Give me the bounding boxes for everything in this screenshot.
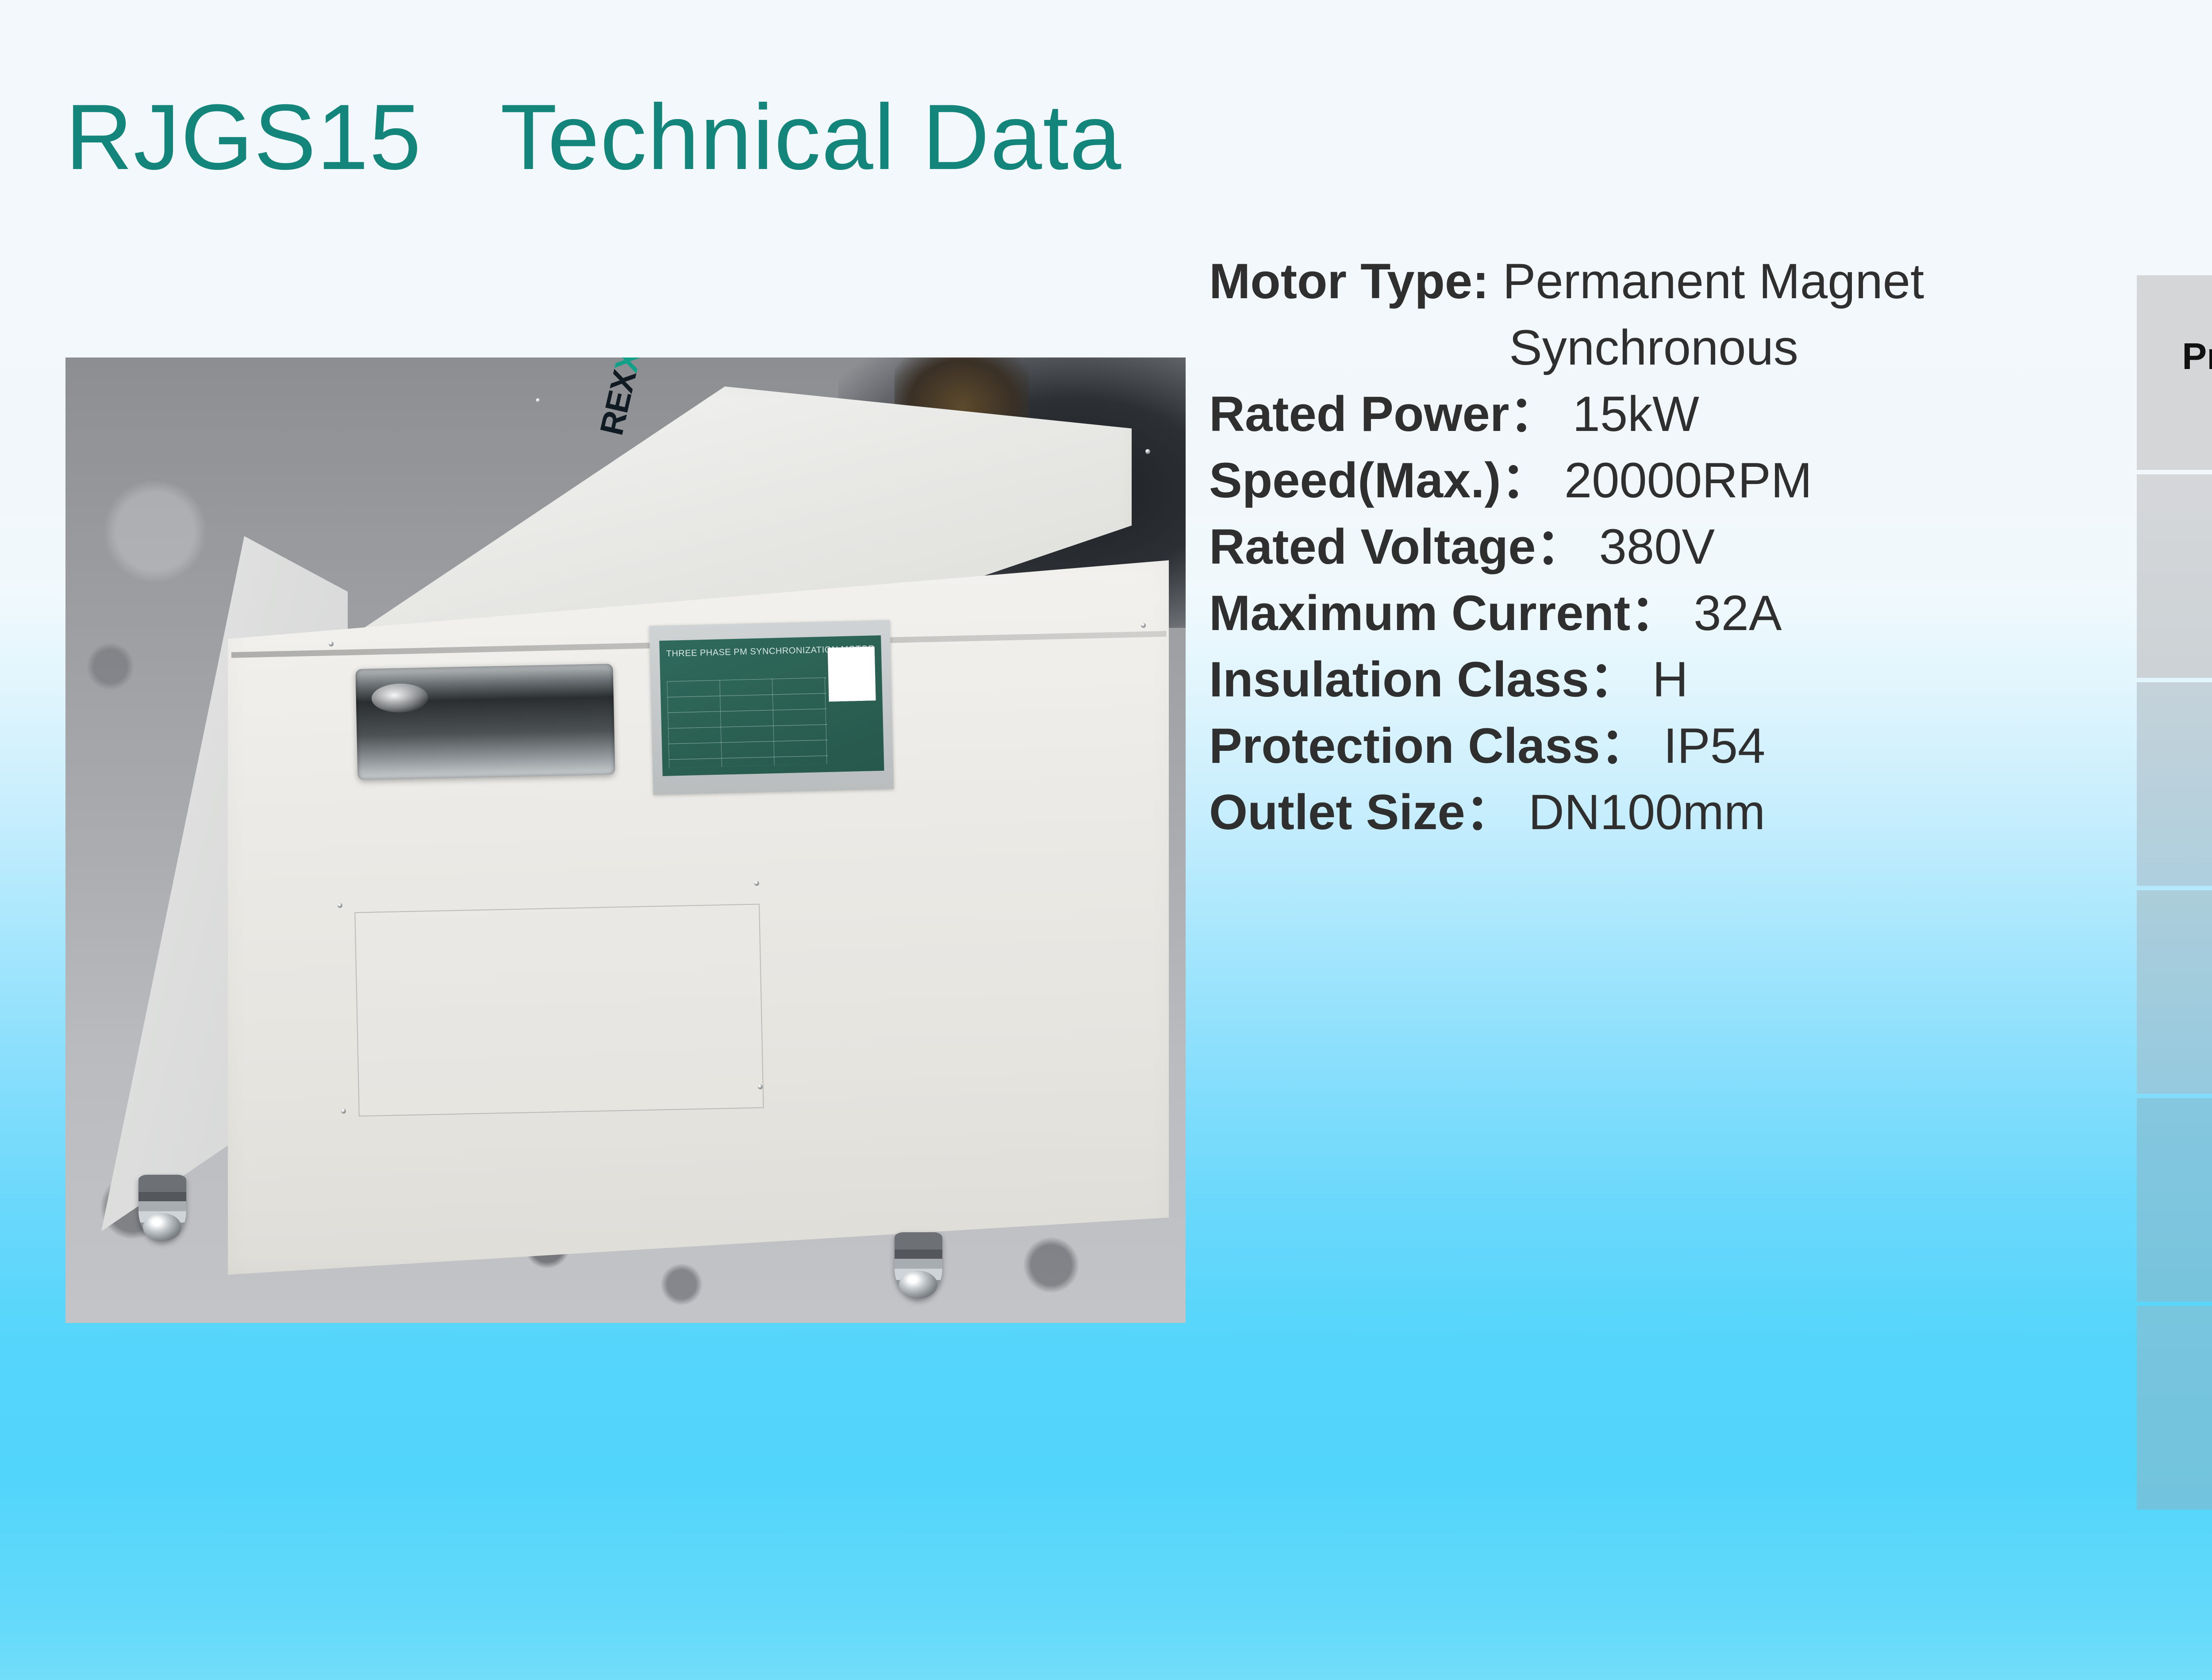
- spec-value: Permanent Magnet: [1503, 254, 1924, 309]
- spec-value: H: [1652, 652, 1688, 707]
- spec-value: 32A: [1694, 585, 1782, 641]
- qr-code-icon: [828, 646, 876, 702]
- table-row: 25 35.4: [2137, 890, 2212, 1094]
- slide-canvas: RJGS15 Technical Data REXXCHIP®瑞晶 THREE …: [0, 0, 2212, 1680]
- spec-key: Motor Type:: [1209, 254, 1489, 309]
- spec-key: Outlet Size：: [1209, 784, 1515, 840]
- table-header-row: Pressure （kpa） Airflow （m³/min）: [2137, 275, 2212, 470]
- table-row: 15 41.6: [2137, 474, 2212, 678]
- spec-row-maximum-current: Maximum Current： 32A: [1209, 588, 2098, 638]
- screw-icon: [341, 1109, 346, 1114]
- table-row: 30 23.9: [2137, 1098, 2212, 1302]
- machine-foot: [138, 1175, 186, 1241]
- spec-row-rated-power: Rated Power： 15kW: [1209, 389, 2098, 439]
- spec-value: 380V: [1599, 519, 1715, 574]
- nameplate-title: THREE PHASE PM SYNCHRONIZATION MOTOR: [666, 645, 844, 659]
- screw-icon: [758, 1084, 763, 1089]
- spec-key: Insulation Class：: [1209, 652, 1639, 707]
- spec-row-motor-type: Motor Type: Permanent Magnet: [1209, 257, 2098, 306]
- cell-pressure: 20: [2137, 682, 2212, 886]
- spec-key: Speed(Max.)：: [1209, 453, 1551, 508]
- spec-value: 20000RPM: [1564, 453, 1812, 508]
- performance-table: Pressure （kpa） Airflow （m³/min） 15 41.6 …: [2137, 275, 2212, 1510]
- spec-row-insulation-class: Insulation Class： H: [1209, 655, 2098, 704]
- machine-access-panel: [355, 903, 764, 1116]
- cell-pressure: 30: [2137, 1098, 2212, 1302]
- spec-key: Rated Power：: [1209, 386, 1559, 442]
- table-row: 20 38.2: [2137, 682, 2212, 886]
- table-header-pressure-label: Pressure: [2182, 335, 2212, 377]
- spec-key: Rated Voltage：: [1209, 519, 1586, 574]
- cell-pressure: 25: [2137, 890, 2212, 1094]
- screw-icon: [329, 642, 334, 646]
- spec-value: IP54: [1663, 718, 1765, 773]
- cell-pressure: 15: [2137, 474, 2212, 678]
- spec-value: 15kW: [1573, 386, 1699, 442]
- spec-row-outlet-size: Outlet Size： DN100mm: [1209, 788, 2098, 837]
- nameplate-spec-grid: [667, 677, 828, 768]
- page-title: RJGS15 Technical Data: [65, 88, 1122, 186]
- machine-foot: [895, 1232, 942, 1299]
- spec-key: Protection Class：: [1209, 718, 1650, 773]
- spec-value: DN100mm: [1528, 784, 1765, 840]
- screw-icon: [754, 881, 759, 886]
- table-header-pressure: Pressure （kpa）: [2137, 275, 2212, 470]
- spec-row-protection-class: Protection Class： IP54: [1209, 721, 2098, 771]
- spec-row-rated-voltage: Rated Voltage： 380V: [1209, 522, 2098, 572]
- table-row: 35 21.3: [2137, 1306, 2212, 1510]
- product-photo: REXXCHIP®瑞晶 THREE PHASE PM SYNCHRONIZATI…: [65, 358, 1186, 1323]
- motor-nameplate: THREE PHASE PM SYNCHRONIZATION MOTOR: [649, 620, 895, 795]
- screw-icon: [1141, 623, 1146, 628]
- spec-key: Maximum Current：: [1209, 585, 1680, 641]
- spec-value-motor-type-cont: Synchronous: [1209, 323, 2098, 373]
- cell-pressure: 35: [2137, 1306, 2212, 1510]
- nameplate-face: THREE PHASE PM SYNCHRONIZATION MOTOR: [659, 635, 884, 776]
- spec-list: Motor Type: Permanent Magnet Synchronous…: [1209, 257, 2098, 854]
- machine-handle: [356, 664, 615, 780]
- spec-row-speed-max: Speed(Max.)： 20000RPM: [1209, 456, 2098, 505]
- table-header-pressure-unit: （kpa）: [2207, 377, 2212, 410]
